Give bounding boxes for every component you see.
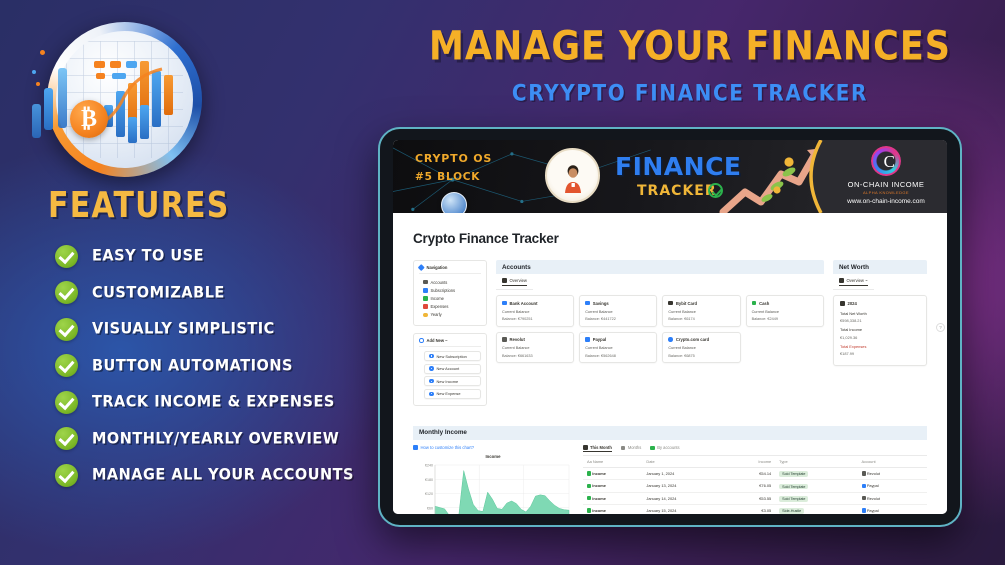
filter-icon (650, 446, 655, 451)
cell-income: €54.14 (726, 467, 775, 479)
send-icon (418, 264, 424, 270)
expenses-icon (423, 304, 428, 309)
sidebar-item-subscriptions[interactable]: Subscriptions (419, 286, 481, 294)
account-name: Bank Account (510, 301, 538, 306)
balance-label: Current Balance (502, 346, 568, 350)
button-label: New Account (437, 366, 460, 371)
new-account-button[interactable]: New Account (424, 364, 481, 374)
balance-label: Current Balance (502, 310, 568, 314)
income-area-chart: 0€60€120€180€2402023-12-062023-11-032023… (413, 461, 573, 514)
banner-block-label: #5 BLOCK (415, 171, 480, 183)
cell-account: Paypal (867, 508, 879, 513)
status-badge: Sold Template (779, 471, 808, 477)
balance-label: Current Balance (668, 310, 734, 314)
navigation-column: Navigation Accounts Subscriptions I (413, 260, 487, 413)
chart-title: Income (413, 454, 573, 459)
feature-label: MANAGE ALL YOUR ACCOUNTS (92, 466, 354, 484)
brand-url: www.on-chain-income.com (833, 198, 939, 205)
cell-date: January 15, 2024 (642, 504, 726, 514)
tab-label: Overview ~ (847, 278, 868, 283)
button-label: New Income (437, 379, 459, 384)
navigation-heading: Navigation (427, 265, 448, 270)
tab-label: By accounts (657, 445, 679, 450)
avatar (545, 148, 600, 203)
table-row[interactable]: Income January 1, 2024 €54.14 Sold Templ… (583, 467, 927, 479)
card-icon (668, 301, 673, 306)
balance-value: Balance: €441722 (585, 317, 651, 321)
account-card[interactable]: Paypal Current Balance Balance: €562648 (579, 332, 657, 364)
navigation-card: Navigation Accounts Subscriptions I (413, 260, 487, 326)
tablet-screen: CRYPTO OS #5 BLOCK FINANCE TRACKER (393, 140, 947, 514)
tab-this-month[interactable]: This Month (583, 445, 612, 453)
check-circle-icon (55, 464, 78, 487)
account-name: Paypal (593, 337, 607, 342)
savings-icon (585, 301, 590, 306)
customize-chart-link[interactable]: How to customize this chart? (413, 445, 573, 450)
on-chain-income-monogram: C (884, 152, 895, 172)
status-badge: Side-Hustle (779, 508, 804, 514)
accounts-card-grid: Bank Account Current Balance Balance: €7… (496, 295, 824, 363)
income-chart-panel: How to customize this chart? Income 0€60… (413, 445, 573, 514)
col-date[interactable]: Date (642, 456, 726, 468)
list-item: TRACK INCOME & EXPENSES (55, 384, 355, 421)
list-item: BUTTON AUTOMATIONS (55, 348, 355, 385)
tab-label: Overview (510, 278, 527, 283)
accounts-icon (423, 280, 428, 285)
cash-icon (752, 301, 757, 306)
income-icon (587, 471, 591, 475)
col-name[interactable]: Aa Name (583, 456, 642, 468)
nav-label: Income (431, 296, 444, 301)
accounts-overview-tab[interactable]: Overview (496, 274, 533, 290)
col-income[interactable]: Income (726, 456, 775, 468)
col-account[interactable]: Account (858, 456, 927, 468)
list-item: MANAGE ALL YOUR ACCOUNTS (55, 457, 355, 494)
info-icon (413, 445, 418, 450)
list-item: EASY TO USE (55, 238, 355, 275)
cell-income: €53.55 (726, 492, 775, 504)
crypto-chart-logo-icon: ₿ (47, 22, 202, 177)
tablet-device-mockup: CRYPTO OS #5 BLOCK FINANCE TRACKER (378, 127, 962, 527)
income-icon (587, 484, 591, 488)
page-subheadline: CRYYPTO FINANCE TRACKER (390, 79, 990, 106)
banner-crypto-os-label: CRYPTO OS (415, 152, 492, 165)
sidebar-item-accounts[interactable]: Accounts (419, 278, 481, 286)
table-icon (583, 445, 588, 450)
income-icon (423, 296, 428, 301)
check-circle-icon (55, 391, 78, 414)
net-worth-label: Total Expenses (840, 344, 920, 349)
bank-icon (502, 301, 507, 306)
net-worth-value: €598,338.21 (840, 318, 920, 323)
list-item: VISUALLY SIMPLISTIC (55, 311, 355, 348)
yearly-icon (423, 313, 428, 318)
button-label: New Expense (437, 391, 461, 396)
net-worth-year: 2024 (848, 301, 857, 306)
account-name: Savings (593, 301, 609, 306)
check-circle-icon (55, 427, 78, 450)
status-badge: Sold Template (779, 496, 808, 502)
gear-icon (429, 392, 434, 397)
balance-value: Balance: €661633 (502, 354, 568, 358)
balance-value: Balance: €562648 (585, 354, 651, 358)
svg-text:€60: €60 (427, 506, 433, 510)
account-card[interactable]: Crypto.com card Current Balance Balance:… (662, 332, 740, 364)
feature-label: TRACK INCOME & EXPENSES (92, 393, 335, 411)
nav-label: Yearly (431, 312, 442, 317)
table-icon (502, 278, 507, 283)
nav-label: Expenses (431, 304, 449, 309)
monthly-income-heading: Monthly Income (413, 426, 927, 440)
new-expense-button[interactable]: New Expense (424, 389, 481, 399)
status-badge: Sold Template (779, 484, 808, 490)
calendar-icon (621, 446, 626, 451)
cell-date: January 1, 2024 (642, 467, 726, 479)
balance-label: Current Balance (585, 346, 651, 350)
brand-name: ON-CHAIN INCOME (833, 180, 939, 189)
feature-label: VISUALLY SIMPLISTIC (92, 320, 275, 338)
cell-income: €3.05 (726, 504, 775, 514)
feature-label: BUTTON AUTOMATIONS (92, 357, 293, 375)
nav-label: Subscriptions (431, 288, 456, 293)
features-list: EASY TO USE CUSTOMIZABLE VISUALLY SIMPLI… (55, 238, 355, 494)
balance-label: Current Balance (668, 346, 734, 350)
income-table: Aa Name Date Income Type Account Income (583, 456, 927, 514)
subscriptions-icon (423, 288, 428, 293)
accounts-heading: Accounts (496, 260, 824, 274)
gear-icon (429, 379, 434, 384)
account-name: Bybit Card (676, 301, 697, 306)
account-icon (862, 496, 866, 500)
calendar-icon (840, 301, 845, 306)
button-label: New Subscription (437, 354, 467, 359)
crypto-com-icon (668, 337, 673, 342)
help-button[interactable]: ? (936, 323, 945, 332)
cell-name: Income (592, 496, 606, 501)
list-item: MONTHLY/YEARLY OVERVIEW (55, 421, 355, 458)
feature-label: CUSTOMIZABLE (92, 284, 225, 302)
cell-account: Revolut (867, 471, 880, 476)
income-table-panel: This Month Months By accounts (583, 445, 927, 514)
tab-label: This Month (590, 445, 612, 450)
svg-text:€120: €120 (425, 492, 433, 496)
col-type[interactable]: Type (775, 456, 857, 468)
balance-value: Balance: €2449 (752, 317, 818, 321)
tab-months[interactable]: Months (621, 445, 641, 453)
notion-cover-banner: CRYPTO OS #5 BLOCK FINANCE TRACKER (393, 140, 947, 213)
monthly-income-section: Monthly Income How to customize this cha… (413, 426, 927, 514)
account-card[interactable]: Cash Current Balance Balance: €2449 (746, 295, 824, 327)
paypal-icon (585, 337, 590, 342)
account-card[interactable]: Bank Account Current Balance Balance: €7… (496, 295, 574, 327)
accounts-column: Accounts Overview Bank Account Current B… (496, 260, 824, 413)
cell-name: Income (592, 483, 606, 488)
features-heading: FEATURES (48, 185, 230, 226)
income-icon (587, 508, 591, 512)
feature-label: MONTHLY/YEARLY OVERVIEW (92, 430, 339, 448)
list-item: CUSTOMIZABLE (55, 275, 355, 312)
gear-icon (429, 366, 434, 371)
new-income-button[interactable]: New Income (424, 376, 481, 386)
income-icon (587, 496, 591, 500)
plus-circle-icon (419, 338, 424, 343)
svg-text:€180: €180 (425, 478, 433, 482)
table-header-row: Aa Name Date Income Type Account (583, 456, 927, 468)
table-row[interactable]: Income January 15, 2024 €3.05 Side-Hustl… (583, 504, 927, 514)
left-promo-panel: ₿ FEATURES EASY TO USE CUSTOMIZABLE VISU… (0, 0, 370, 565)
net-worth-value: €187.99 (840, 351, 920, 356)
account-name: Revolut (510, 337, 525, 342)
cell-name: Income (592, 508, 606, 513)
gear-icon (429, 354, 434, 359)
check-circle-icon (55, 318, 78, 341)
sidebar-item-yearly[interactable]: Yearly (419, 311, 481, 319)
nav-label: Accounts (431, 280, 448, 285)
balance-label: Current Balance (752, 310, 818, 314)
net-worth-card[interactable]: 2024 Total Net Worth €598,338.21 Total I… (833, 295, 927, 366)
check-circle-icon (55, 245, 78, 268)
balance-value: Balance: €6174 (668, 317, 734, 321)
table-row[interactable]: Income January 13, 2024 €76.05 Sold Temp… (583, 480, 927, 492)
svg-text:€240: €240 (425, 463, 433, 467)
cell-date: January 14, 2024 (642, 492, 726, 504)
feature-label: EASY TO USE (92, 247, 204, 265)
revolut-icon (502, 337, 507, 342)
net-worth-overview-tab[interactable]: Overview ~ (833, 274, 874, 290)
net-worth-value: €1,029.36 (840, 335, 920, 340)
cell-account: Paypal (867, 483, 879, 488)
bitcoin-icon: ₿ (70, 100, 108, 138)
cell-name: Income (592, 471, 606, 476)
add-new-heading: Add New ~ (427, 338, 448, 343)
account-name: Crypto.com card (676, 337, 709, 342)
table-row[interactable]: Income January 14, 2024 €53.55 Sold Temp… (583, 492, 927, 504)
page-title: Crypto Finance Tracker (413, 231, 927, 246)
table-icon (839, 278, 844, 283)
cell-account: Revolut (867, 496, 880, 501)
new-subscription-button[interactable]: New Subscription (424, 351, 481, 361)
notion-page-body: Crypto Finance Tracker Navigation Accoun… (393, 213, 947, 514)
net-worth-heading: Net Worth (833, 260, 927, 274)
account-icon (862, 508, 866, 512)
account-name: Cash (759, 301, 769, 306)
cell-date: January 13, 2024 (642, 480, 726, 492)
net-worth-label: Total Income (840, 327, 920, 332)
check-circle-icon (55, 354, 78, 377)
page-emoji-icon (441, 192, 467, 213)
banner-tracker-word: TRACKER (637, 183, 717, 199)
check-circle-icon (55, 281, 78, 304)
sidebar-item-income[interactable]: Income (419, 294, 481, 302)
account-icon (862, 484, 866, 488)
account-card[interactable]: Revolut Current Balance Balance: €661633 (496, 332, 574, 364)
page-headline: MANAGE YOUR FINANCES (390, 24, 990, 70)
cell-income: €76.05 (726, 480, 775, 492)
balance-label: Current Balance (585, 310, 651, 314)
link-label: How to customize this chart? (421, 445, 475, 450)
account-card[interactable]: Bybit Card Current Balance Balance: €617… (662, 295, 740, 327)
add-new-card: Add New ~ New Subscription New Account (413, 333, 487, 406)
account-icon (862, 471, 866, 475)
net-worth-label: Total Net Worth (840, 311, 920, 316)
tab-label: Months (628, 445, 641, 450)
balance-value: Balance: €6875 (668, 354, 734, 358)
balance-value: Balance: €790251 (502, 317, 568, 321)
net-worth-column: Net Worth Overview ~ 2024 Total Net Wort… (833, 260, 927, 413)
account-card[interactable]: Savings Current Balance Balance: €441722 (579, 295, 657, 327)
sidebar-item-expenses[interactable]: Expenses (419, 303, 481, 311)
brand-tagline: ALPHA KNOWLEDGE (833, 190, 939, 195)
tab-by-accounts[interactable]: By accounts (650, 445, 679, 453)
